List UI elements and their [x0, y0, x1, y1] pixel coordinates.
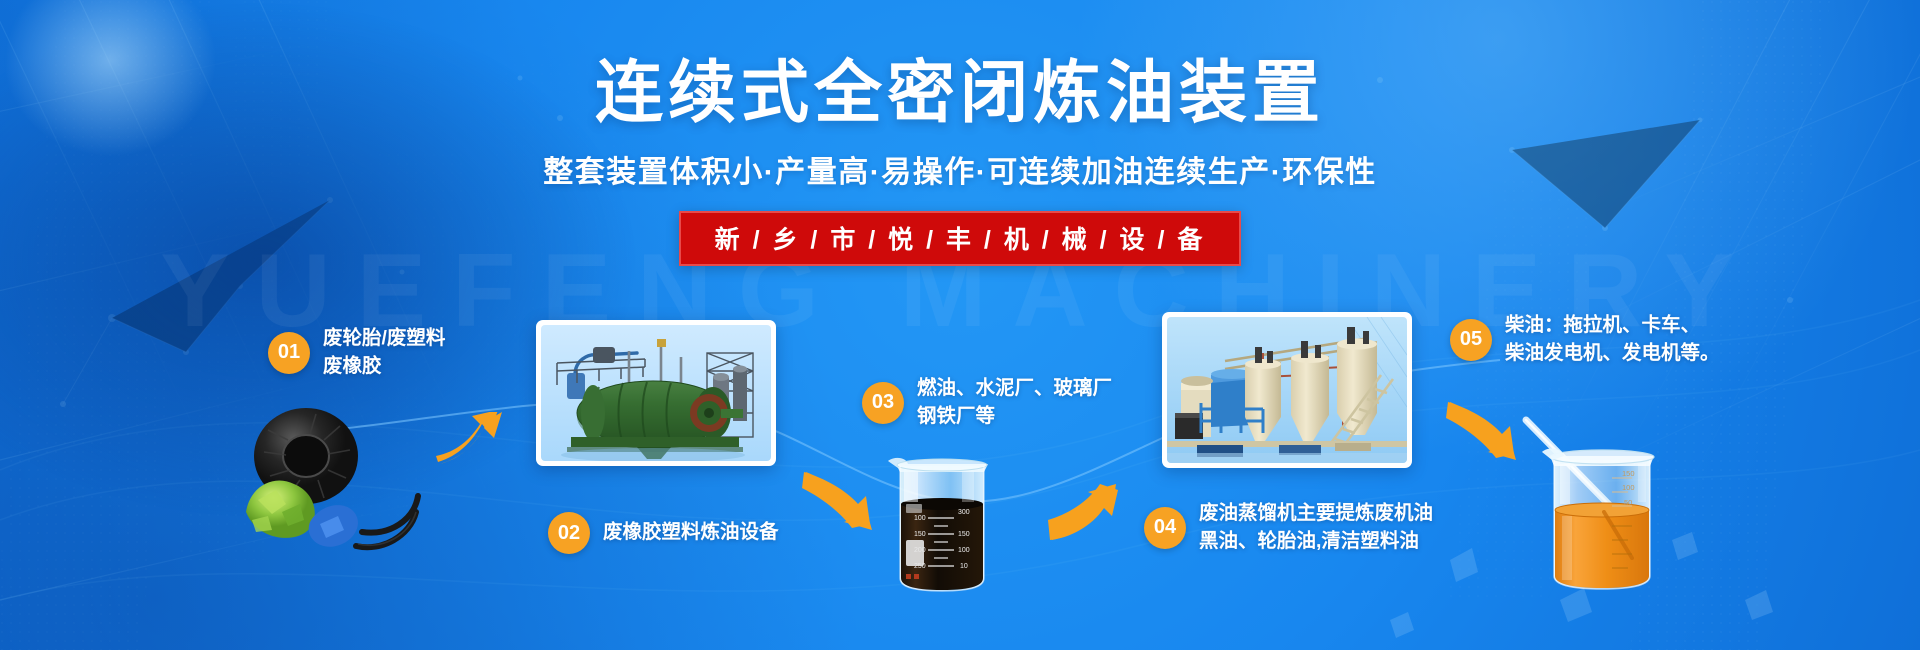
step-03-number: 03	[862, 382, 904, 424]
step-02-label: 02 废橡胶塑料炼油设备	[548, 512, 779, 554]
process-flow-diagram: 01 废轮胎/废塑料 废橡胶	[0, 0, 1920, 650]
arrow-02-to-03-icon	[800, 470, 886, 532]
step-03-text: 燃油、水泥厂、玻璃厂 钢铁厂等	[917, 375, 1112, 430]
svg-text:100: 100	[958, 547, 970, 554]
step-02-number: 02	[548, 512, 590, 554]
svg-text:50: 50	[1624, 498, 1632, 507]
step-01-text: 废轮胎/废塑料 废橡胶	[323, 325, 445, 380]
step-01-label: 01 废轮胎/废塑料 废橡胶	[268, 325, 445, 380]
arrow-01-to-02-icon	[432, 412, 512, 472]
svg-text:150: 150	[958, 531, 970, 538]
pyrolysis-reactor-illustration	[541, 325, 771, 461]
step-04-label: 04 废油蒸馏机主要提炼废机油 黑油、轮胎油,清洁塑料油	[1144, 500, 1433, 555]
step-05-label: 05 柴油：拖拉机、卡车、 柴油发电机、发电机等。	[1450, 312, 1720, 367]
svg-text:10: 10	[960, 563, 968, 570]
arrow-03-to-04-icon	[1046, 482, 1132, 544]
step-04-number: 04	[1144, 507, 1186, 549]
arrow-04-to-05-icon	[1444, 400, 1530, 462]
step-03-label: 03 燃油、水泥厂、玻璃厂 钢铁厂等	[862, 375, 1112, 430]
step-01-number: 01	[268, 332, 310, 374]
distillation-plant-illustration	[1167, 317, 1407, 463]
step-02-text: 废橡胶塑料炼油设备	[603, 519, 779, 547]
waste-tire-icon	[228, 400, 443, 560]
black-fuel-oil-beaker-icon: 100150 200250 300150 10010	[884, 448, 1012, 596]
svg-text:150: 150	[914, 531, 926, 538]
pyrolysis-reactor-photo	[536, 320, 776, 466]
step-05-text: 柴油：拖拉机、卡车、 柴油发电机、发电机等。	[1505, 312, 1720, 367]
svg-text:100: 100	[914, 515, 926, 522]
distillation-plant-photo	[1162, 312, 1412, 468]
promotional-banner: YUEFENG MACHINERY 连续式全密闭炼油装置 整套装置体积小·产量高…	[0, 0, 1920, 650]
svg-text:300: 300	[958, 509, 970, 516]
diesel-beaker-icon: 15010050	[1520, 408, 1690, 594]
svg-text:150: 150	[1622, 469, 1635, 478]
step-04-text: 废油蒸馏机主要提炼废机油 黑油、轮胎油,清洁塑料油	[1199, 500, 1433, 555]
svg-text:100: 100	[1622, 483, 1635, 492]
step-05-number: 05	[1450, 319, 1492, 361]
